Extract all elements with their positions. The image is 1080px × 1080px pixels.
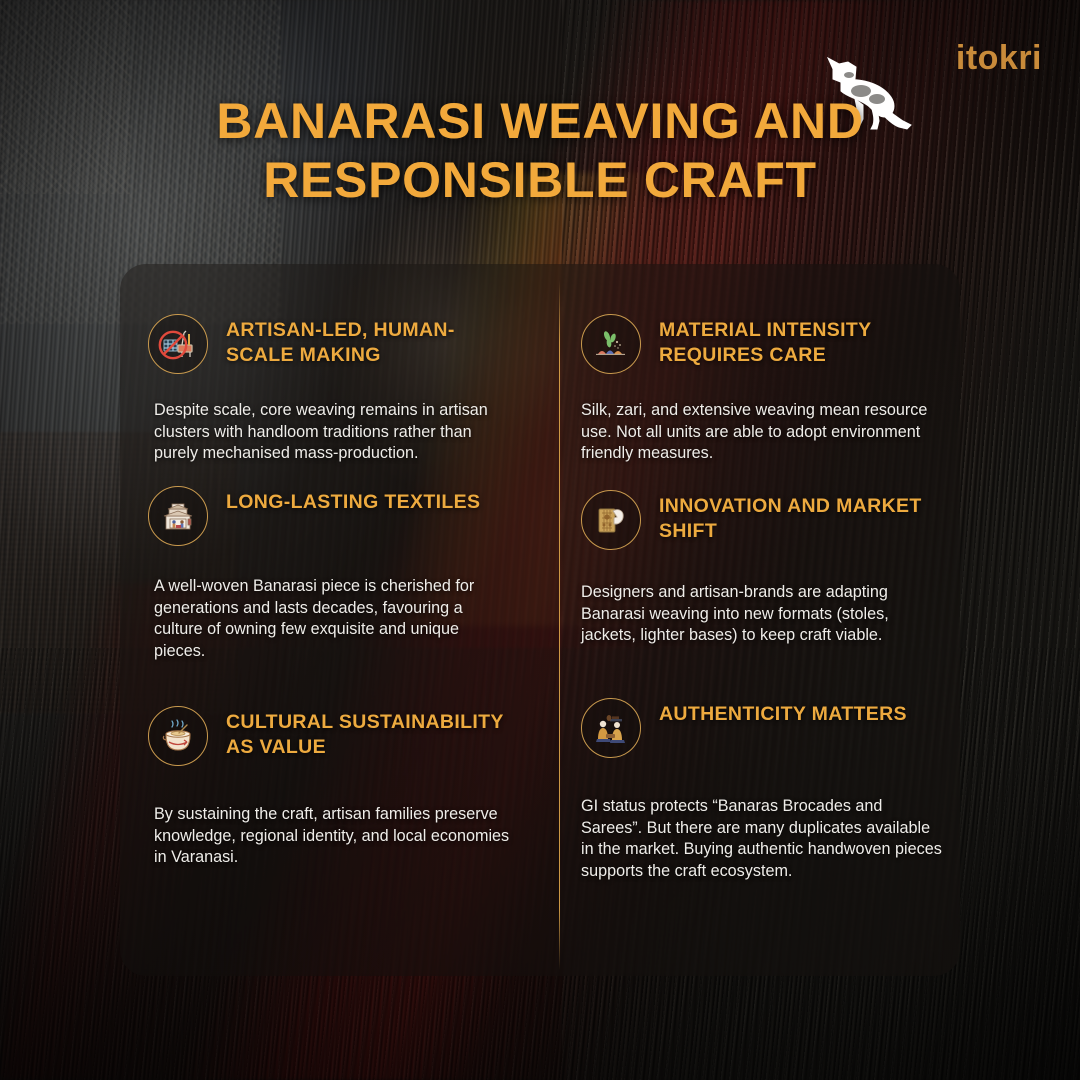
card-innovation-market-shift: INNOVATION AND MARKET SHIFT Designers an…: [559, 464, 960, 674]
card-title: MATERIAL INTENSITY REQUIRES CARE: [659, 312, 942, 368]
craft-shopfront-icon: [148, 486, 208, 546]
steaming-pot-icon: [148, 706, 208, 766]
brand-logo-text: itokri: [932, 38, 1042, 78]
card-body: Despite scale, core weaving remains in a…: [148, 374, 515, 465]
card-header: INNOVATION AND MARKET SHIFT: [581, 488, 942, 550]
two-artisans-seated-icon: [581, 698, 641, 758]
card-body: By sustaining the craft, artisan familie…: [148, 766, 515, 869]
card-material-intensity: MATERIAL INTENSITY REQUIRES CARE Silk, z…: [559, 264, 960, 464]
card-header: LONG-LASTING TEXTILES: [148, 484, 515, 546]
card-body: Silk, zari, and extensive weaving mean r…: [581, 374, 942, 465]
card-cultural-sustainability: CULTURAL SUSTAINABILITY AS VALUE By sust…: [120, 674, 559, 976]
page-title: BANARASI WEAVING AND RESPONSIBLE CRAFT: [0, 92, 1080, 210]
card-body: Designers and artisan-brands are adaptin…: [581, 550, 942, 647]
content-panel: ARTISAN-LED, HUMAN-SCALE MAKING Despite …: [120, 264, 960, 976]
card-title: ARTISAN-LED, HUMAN-SCALE MAKING: [226, 312, 515, 368]
card-title: AUTHENTICITY MATTERS: [659, 696, 907, 727]
card-authenticity-matters: AUTHENTICITY MATTERS GI status protects …: [559, 674, 960, 976]
hand-holding-brocade-icon: [581, 490, 641, 550]
card-body: A well-woven Banarasi piece is cherished…: [148, 546, 510, 663]
page-title-line-2: RESPONSIBLE CRAFT: [263, 152, 817, 208]
leaves-and-dye-piles-icon: [581, 314, 641, 374]
card-header: ARTISAN-LED, HUMAN-SCALE MAKING: [148, 312, 515, 374]
card-header: AUTHENTICITY MATTERS: [581, 696, 942, 758]
card-title: CULTURAL SUSTAINABILITY AS VALUE: [226, 704, 515, 760]
infographic-canvas: itokri BANARASI WEAVING AND RESPONSIBLE …: [0, 0, 1080, 1080]
card-title: INNOVATION AND MARKET SHIFT: [659, 488, 942, 544]
card-title: LONG-LASTING TEXTILES: [226, 484, 480, 515]
card-artisan-led: ARTISAN-LED, HUMAN-SCALE MAKING Despite …: [120, 264, 559, 464]
card-header: MATERIAL INTENSITY REQUIRES CARE: [581, 312, 942, 374]
page-title-text: BANARASI WEAVING AND RESPONSIBLE CRAFT: [90, 92, 990, 210]
card-header: CULTURAL SUSTAINABILITY AS VALUE: [148, 704, 515, 766]
cards-grid: ARTISAN-LED, HUMAN-SCALE MAKING Despite …: [120, 264, 960, 976]
brand-logo[interactable]: itokri: [932, 38, 1042, 78]
card-long-lasting-textiles: LONG-LASTING TEXTILES A well-woven Banar…: [120, 464, 559, 674]
card-body: GI status protects “Banaras Brocades and…: [581, 758, 942, 883]
no-machine-loom-icon: [148, 314, 208, 374]
page-title-line-1: BANARASI WEAVING AND: [216, 93, 863, 149]
